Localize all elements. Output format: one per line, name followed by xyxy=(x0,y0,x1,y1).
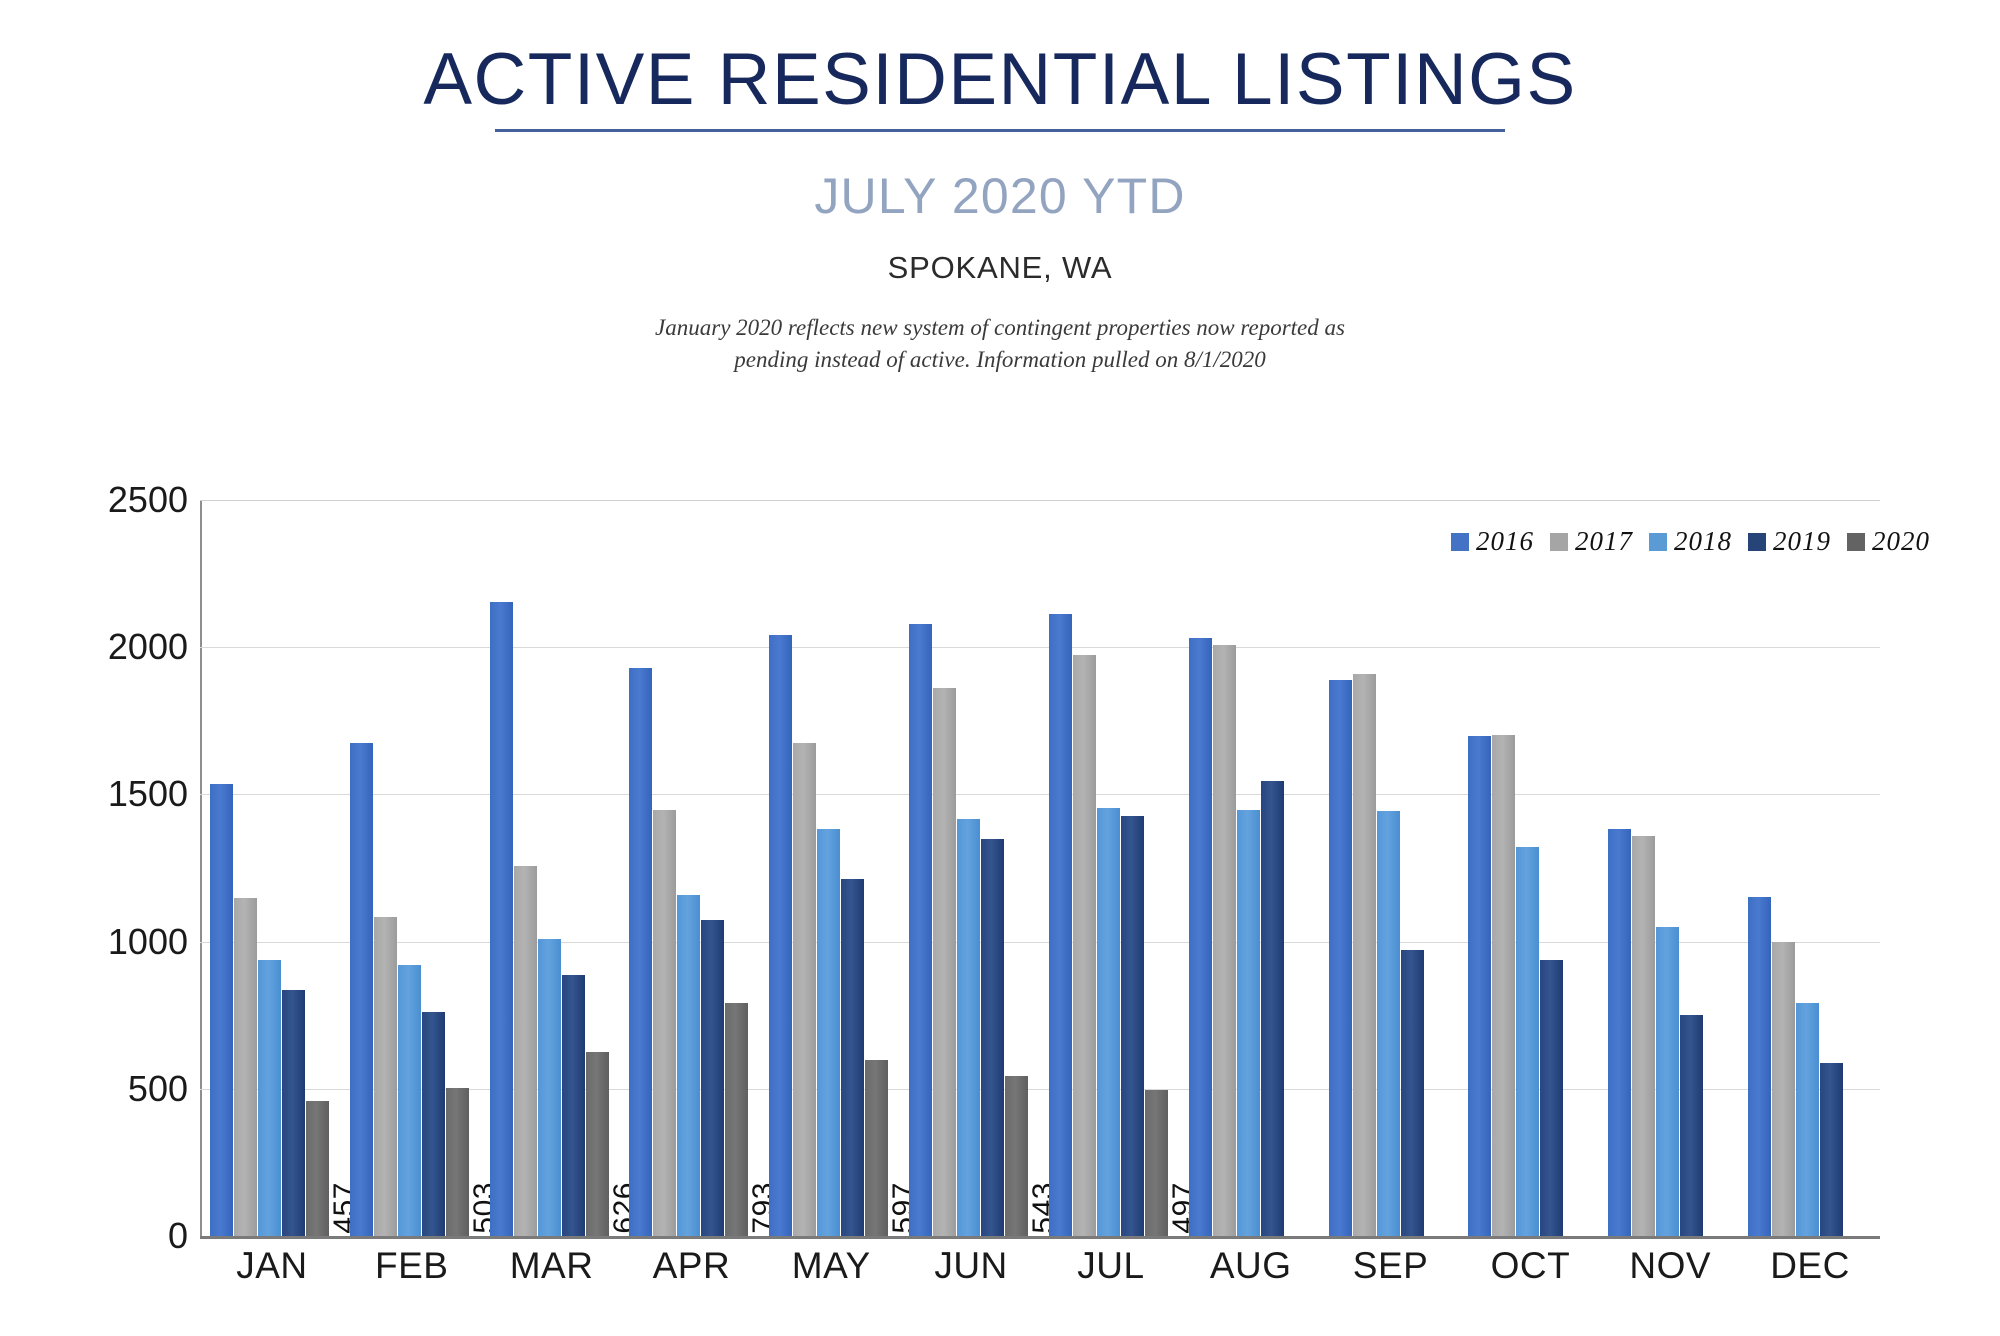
bar-JUN-2019[interactable] xyxy=(981,839,1004,1236)
bar-group-MAR: 626 xyxy=(482,500,622,1236)
x-tick-label-NOV: NOV xyxy=(1600,1245,1740,1287)
bar-MAR-2017[interactable] xyxy=(514,866,537,1236)
x-tick-label-APR: APR xyxy=(621,1245,761,1287)
bar-AUG-2019[interactable] xyxy=(1261,781,1284,1236)
bar-OCT-2016[interactable] xyxy=(1468,736,1491,1236)
bar-APR-2016[interactable] xyxy=(629,668,652,1236)
bar-FEB-2019[interactable] xyxy=(422,1012,445,1236)
bar-NOV-2016[interactable] xyxy=(1608,829,1631,1236)
x-tick-label-AUG: AUG xyxy=(1181,1245,1321,1287)
bar-group-JUL: 497 xyxy=(1041,500,1181,1236)
bar-MAR-2016[interactable] xyxy=(490,602,513,1236)
footnote: January 2020 reflects new system of cont… xyxy=(620,312,1380,375)
footnote-line-2: pending instead of active. Information p… xyxy=(620,344,1380,376)
bar-DEC-2018[interactable] xyxy=(1796,1003,1819,1236)
bar-group-JAN: 457 xyxy=(202,500,342,1236)
bar-APR-2020[interactable]: 793 xyxy=(725,1003,748,1236)
bar-NOV-2018[interactable] xyxy=(1656,927,1679,1236)
bar-APR-2019[interactable] xyxy=(701,920,724,1236)
bar-group-MAY: 597 xyxy=(761,500,901,1236)
bars-NOV xyxy=(1600,500,1740,1236)
bar-FEB-2017[interactable] xyxy=(374,917,397,1236)
bar-SEP-2019[interactable] xyxy=(1401,950,1424,1236)
y-tick-label-1000: 1000 xyxy=(28,921,188,963)
bar-DEC-2016[interactable] xyxy=(1748,897,1771,1236)
bar-group-FEB: 503 xyxy=(342,500,482,1236)
x-tick-label-DEC: DEC xyxy=(1740,1245,1880,1287)
bar-MAY-2019[interactable] xyxy=(841,879,864,1236)
bar-JAN-2016[interactable] xyxy=(210,784,233,1236)
bars-JUL: 497 xyxy=(1041,500,1181,1236)
bar-MAY-2020[interactable]: 597 xyxy=(865,1060,888,1236)
y-tick-label-0: 0 xyxy=(28,1215,188,1257)
bar-group-SEP xyxy=(1321,500,1461,1236)
bar-APR-2018[interactable] xyxy=(677,895,700,1236)
bars-JAN: 457 xyxy=(202,500,342,1236)
bar-NOV-2019[interactable] xyxy=(1680,1015,1703,1236)
bar-group-AUG xyxy=(1181,500,1321,1236)
x-axis-line xyxy=(200,1236,1880,1239)
bar-MAR-2018[interactable] xyxy=(538,939,561,1236)
x-tick-label-MAY: MAY xyxy=(761,1245,901,1287)
bar-OCT-2017[interactable] xyxy=(1492,735,1515,1236)
bar-MAY-2016[interactable] xyxy=(769,635,792,1236)
bar-FEB-2016[interactable] xyxy=(350,743,373,1236)
bar-JUL-2018[interactable] xyxy=(1097,808,1120,1236)
bar-SEP-2017[interactable] xyxy=(1353,674,1376,1236)
x-tick-label-JAN: JAN xyxy=(202,1245,342,1287)
bar-MAY-2018[interactable] xyxy=(817,829,840,1236)
bar-chart: 25002000150010005000 2016201720182019202… xyxy=(0,470,2000,1336)
bar-group-JUN: 543 xyxy=(901,500,1041,1236)
bar-MAR-2019[interactable] xyxy=(562,975,585,1236)
bar-FEB-2020[interactable]: 503 xyxy=(446,1088,469,1236)
bar-group-DEC xyxy=(1740,500,1880,1236)
bar-JUL-2019[interactable] xyxy=(1121,816,1144,1236)
bar-JAN-2017[interactable] xyxy=(234,898,257,1236)
bars-JUN: 543 xyxy=(901,500,1041,1236)
x-axis-labels: JANFEBMARAPRMAYJUNJULAUGSEPOCTNOVDEC xyxy=(202,1245,1880,1287)
bars-APR: 793 xyxy=(621,500,761,1236)
footnote-line-1: January 2020 reflects new system of cont… xyxy=(620,312,1380,344)
bar-JAN-2019[interactable] xyxy=(282,990,305,1236)
page-subtitle: JULY 2020 YTD xyxy=(0,170,2000,223)
bars-MAY: 597 xyxy=(761,500,901,1236)
y-tick-label-1500: 1500 xyxy=(28,773,188,815)
x-tick-label-JUN: JUN xyxy=(901,1245,1041,1287)
bars-OCT xyxy=(1460,500,1600,1236)
bar-FEB-2018[interactable] xyxy=(398,965,421,1236)
bar-APR-2017[interactable] xyxy=(653,810,676,1236)
x-tick-label-FEB: FEB xyxy=(342,1245,482,1287)
title-underline-rule xyxy=(495,129,1505,132)
bars-FEB: 503 xyxy=(342,500,482,1236)
bar-AUG-2016[interactable] xyxy=(1189,638,1212,1236)
bars-AUG xyxy=(1181,500,1321,1236)
bar-JUL-2020[interactable]: 497 xyxy=(1145,1090,1168,1236)
bar-OCT-2019[interactable] xyxy=(1540,960,1563,1236)
bar-DEC-2019[interactable] xyxy=(1820,1063,1843,1236)
bars-SEP xyxy=(1321,500,1461,1236)
bar-NOV-2017[interactable] xyxy=(1632,836,1655,1236)
bar-group-NOV xyxy=(1600,500,1740,1236)
bar-OCT-2018[interactable] xyxy=(1516,847,1539,1236)
x-tick-label-SEP: SEP xyxy=(1321,1245,1461,1287)
bars-DEC xyxy=(1740,500,1880,1236)
bars-MAR: 626 xyxy=(482,500,622,1236)
y-tick-label-2500: 2500 xyxy=(28,479,188,521)
x-tick-label-MAR: MAR xyxy=(482,1245,622,1287)
location-label: SPOKANE, WA xyxy=(0,250,2000,286)
bar-JUN-2018[interactable] xyxy=(957,819,980,1236)
bar-JUL-2016[interactable] xyxy=(1049,614,1072,1236)
x-tick-label-JUL: JUL xyxy=(1041,1245,1181,1287)
bar-JUN-2017[interactable] xyxy=(933,688,956,1236)
legend-label-2020: 2020 xyxy=(1872,526,1930,557)
x-tick-label-OCT: OCT xyxy=(1460,1245,1600,1287)
page-title: ACTIVE RESIDENTIAL LISTINGS xyxy=(0,42,2000,118)
bar-MAR-2020[interactable]: 626 xyxy=(586,1052,609,1236)
bar-JUN-2016[interactable] xyxy=(909,624,932,1236)
bar-JAN-2018[interactable] xyxy=(258,960,281,1236)
bar-group-APR: 793 xyxy=(621,500,761,1236)
bar-JUN-2020[interactable]: 543 xyxy=(1005,1076,1028,1236)
y-tick-label-2000: 2000 xyxy=(28,626,188,668)
bar-AUG-2018[interactable] xyxy=(1237,810,1260,1236)
bar-SEP-2016[interactable] xyxy=(1329,680,1352,1236)
bar-MAY-2017[interactable] xyxy=(793,743,816,1236)
bar-AUG-2017[interactable] xyxy=(1213,645,1236,1236)
bar-JUL-2017[interactable] xyxy=(1073,655,1096,1236)
bar-groups: 457503626793597543497 xyxy=(202,500,1880,1236)
bar-JAN-2020[interactable]: 457 xyxy=(306,1101,329,1236)
y-tick-label-500: 500 xyxy=(28,1068,188,1110)
bar-DEC-2017[interactable] xyxy=(1772,942,1795,1236)
bar-SEP-2018[interactable] xyxy=(1377,811,1400,1236)
bar-group-OCT xyxy=(1460,500,1600,1236)
page-header: ACTIVE RESIDENTIAL LISTINGS JULY 2020 YT… xyxy=(0,0,2000,376)
